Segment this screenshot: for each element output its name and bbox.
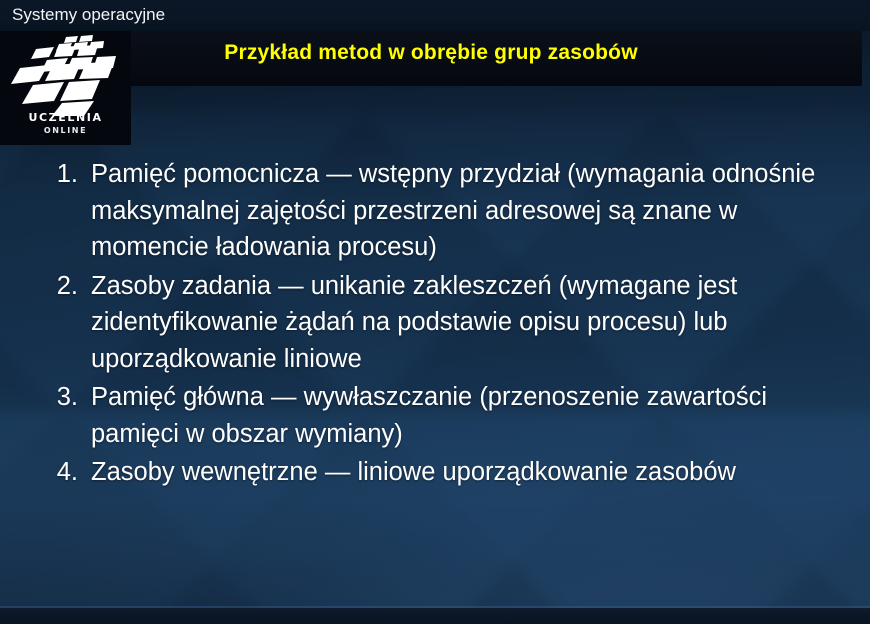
slide-content: 1. Pamięć pomocnicza — wstępny przydział…: [44, 156, 834, 493]
uczelnia-tiles-icon: [6, 35, 124, 117]
bottom-strip: [0, 608, 870, 624]
list-item-text: Pamięć główna — wywłaszczanie (przenosze…: [91, 379, 834, 452]
list-item-number: 2.: [48, 268, 78, 305]
logo-subtitle: ONLINE: [0, 126, 131, 135]
top-bar: Systemy operacyjne: [0, 0, 870, 31]
course-label: Systemy operacyjne: [12, 3, 165, 27]
list-item: 1. Pamięć pomocnicza — wstępny przydział…: [44, 156, 834, 266]
list-item-number: 1.: [48, 156, 78, 193]
logo-wordmark: UCZELNIA: [0, 111, 131, 124]
logo-block: UCZELNIA ONLINE: [0, 31, 131, 145]
list-item-text: Zasoby zadania — unikanie zakleszczeń (w…: [91, 268, 834, 378]
numbered-list: 1. Pamięć pomocnicza — wstępny przydział…: [44, 156, 834, 491]
list-item-number: 3.: [48, 379, 78, 416]
slide-canvas: Systemy operacyjne Przykład metod w obrę…: [0, 0, 870, 624]
list-item-text: Pamięć pomocnicza — wstępny przydział (w…: [91, 156, 834, 266]
list-item: 4. Zasoby wewnętrzne — liniowe uporządko…: [44, 454, 834, 491]
list-item-text: Zasoby wewnętrzne — liniowe uporządkowan…: [91, 454, 834, 491]
list-item-number: 4.: [48, 454, 78, 491]
list-item: 2. Zasoby zadania — unikanie zakleszczeń…: [44, 268, 834, 378]
list-item: 3. Pamięć główna — wywłaszczanie (przeno…: [44, 379, 834, 452]
